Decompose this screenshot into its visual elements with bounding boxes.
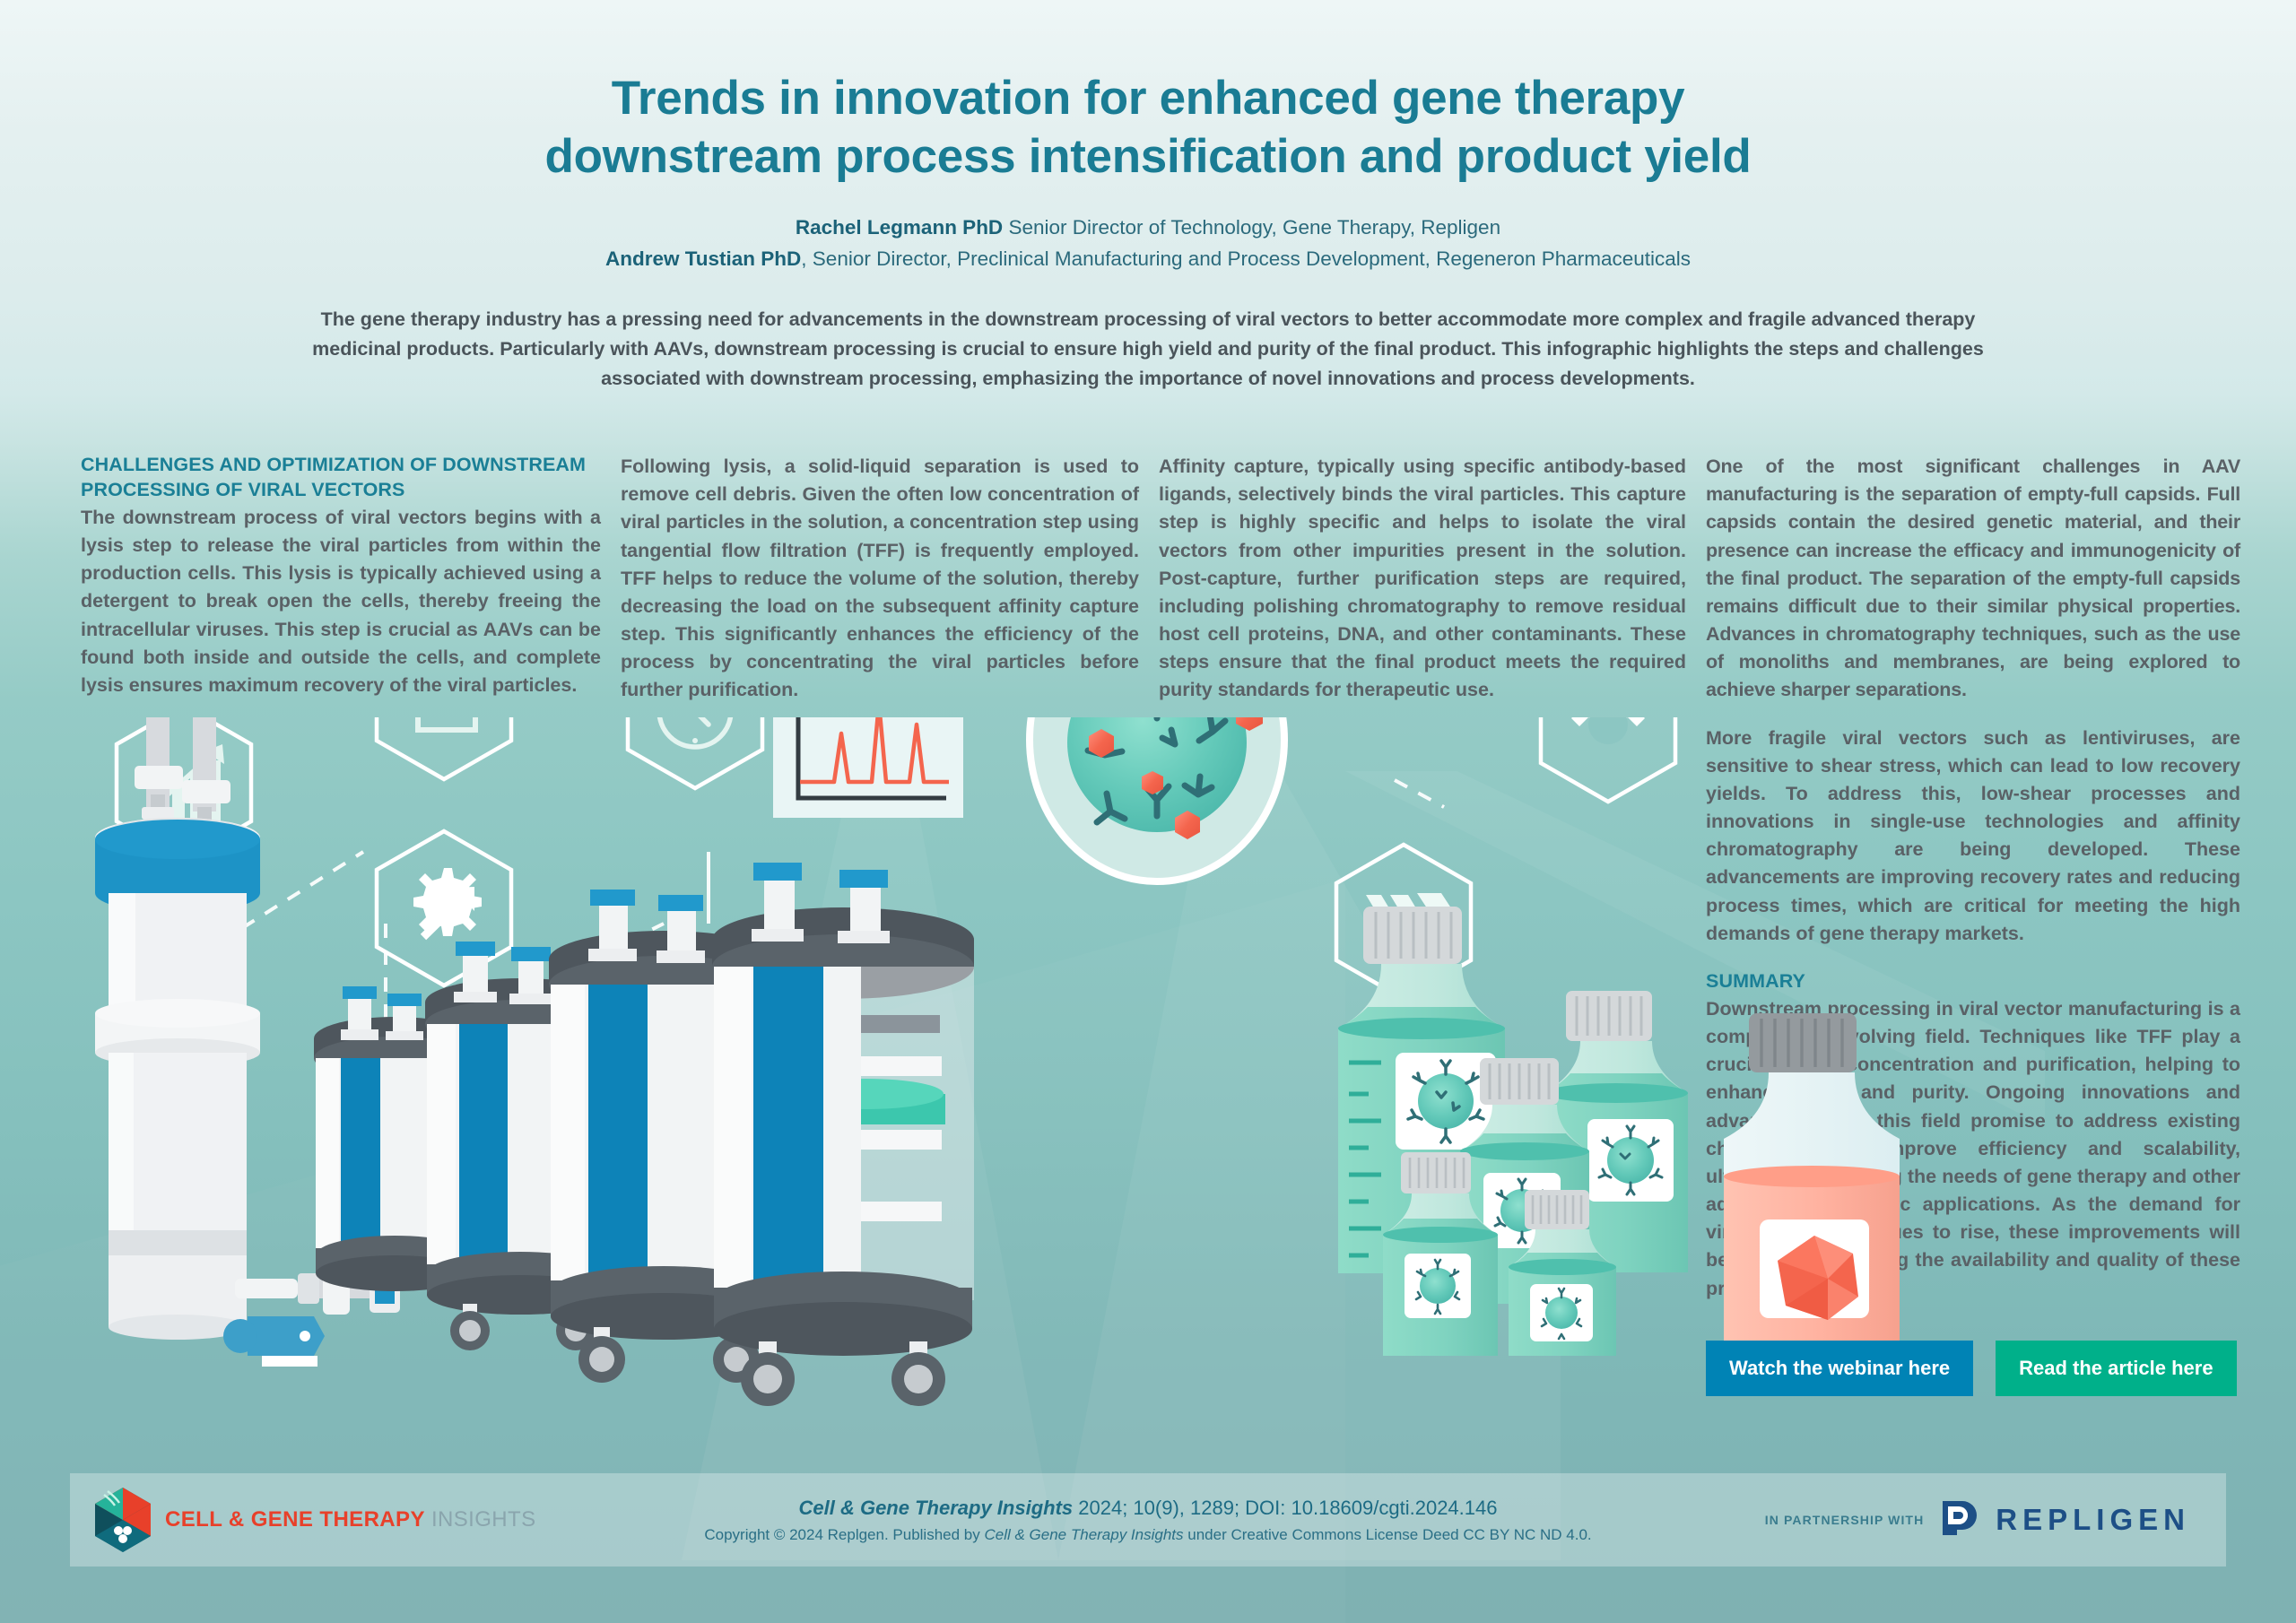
citation-line: Cell & Gene Therapy Insights 2024; 10(9)… — [572, 1497, 1724, 1520]
clock-icon — [659, 717, 731, 747]
column-2-paragraph: Following lysis, a solid-liquid separati… — [621, 453, 1139, 705]
tff-skid — [712, 863, 974, 1406]
bottle-salmon — [1724, 1013, 1900, 1356]
hex-gear — [1541, 717, 1675, 802]
citation-details: 2024; 10(9), 1289; DOI: 10.18609/cgti.20… — [1073, 1497, 1497, 1519]
cgti-wordmark-primary: CELL & GENE THERAPY — [165, 1507, 425, 1532]
header: Trends in innovation for enhanced gene t… — [0, 0, 2296, 395]
gear-arrow-icon — [413, 868, 482, 937]
partner-block: IN PARTNERSHIP WITH REPLIGEN — [1724, 1497, 2226, 1543]
cgti-diamond-icon — [95, 1488, 151, 1552]
citation-journal: Cell & Gene Therapy Insights — [799, 1497, 1074, 1519]
intro-paragraph: The gene therapy industry has a pressing… — [300, 305, 1996, 395]
affinity-capture-cell — [1030, 717, 1284, 881]
copyright-prefix: Copyright © 2024 Replgen. Published by — [704, 1526, 984, 1543]
authors-block: Rachel Legmann PhD Senior Director of Te… — [0, 213, 2296, 273]
author-1-name: Rachel Legmann PhD — [796, 216, 1003, 239]
author-2-name: Andrew Tustian PhD — [605, 247, 801, 270]
repligen-wordmark: REPLIGEN — [1996, 1503, 2190, 1537]
column-3-paragraph: Affinity capture, typically using specif… — [1159, 453, 1686, 705]
cgti-logo: CELL & GENE THERAPY INSIGHTS — [70, 1488, 572, 1552]
column-1-paragraph: The downstream process of viral vectors … — [81, 504, 601, 699]
watch-webinar-button[interactable]: Watch the webinar here — [1706, 1341, 1973, 1396]
column-4-paragraph-1: One of the most significant challenges i… — [1706, 453, 2240, 705]
column-3: Affinity capture, typically using specif… — [1159, 453, 1686, 705]
external-link-icon — [418, 717, 484, 730]
cgti-wordmark: CELL & GENE THERAPY INSIGHTS — [165, 1507, 535, 1532]
page-title: Trends in innovation for enhanced gene t… — [0, 0, 2296, 186]
copyright-suffix: under Creative Commons License Deed CC B… — [1184, 1526, 1592, 1543]
hex-gear-arrow — [377, 831, 511, 985]
hex-clock — [628, 717, 762, 788]
gear-icon — [1564, 717, 1652, 744]
cta-buttons: Watch the webinar here Read the article … — [1706, 1341, 2237, 1396]
author-2-role: , Senior Director, Preclinical Manufactu… — [801, 247, 1691, 270]
column-1: CHALLENGES AND OPTIMIZATION OF DOWNSTREA… — [81, 453, 601, 699]
column-1-heading: CHALLENGES AND OPTIMIZATION OF DOWNSTREA… — [81, 453, 601, 503]
repligen-mark-icon — [1939, 1497, 1980, 1543]
author-1-role: Senior Director of Technology, Gene Ther… — [1003, 216, 1500, 239]
cgti-wordmark-secondary: INSIGHTS — [431, 1507, 536, 1532]
chromatogram-card — [773, 717, 963, 818]
footer: CELL & GENE THERAPY INSIGHTS Cell & Gene… — [70, 1473, 2226, 1567]
citation-block: Cell & Gene Therapy Insights 2024; 10(9)… — [572, 1497, 1724, 1544]
read-article-button[interactable]: Read the article here — [1996, 1341, 2236, 1396]
partner-label: IN PARTNERSHIP WITH — [1765, 1513, 1925, 1527]
hex-external-link — [377, 717, 511, 779]
infographic-page: Trends in innovation for enhanced gene t… — [0, 0, 2296, 1623]
column-2: Following lysis, a solid-liquid separati… — [621, 453, 1139, 705]
copyright-line: Copyright © 2024 Replgen. Published by C… — [572, 1526, 1724, 1544]
author-1: Rachel Legmann PhD Senior Director of Te… — [0, 213, 2296, 243]
author-2: Andrew Tustian PhD, Senior Director, Pre… — [0, 244, 2296, 274]
copyright-journal: Cell & Gene Therapy Insights — [984, 1526, 1183, 1543]
